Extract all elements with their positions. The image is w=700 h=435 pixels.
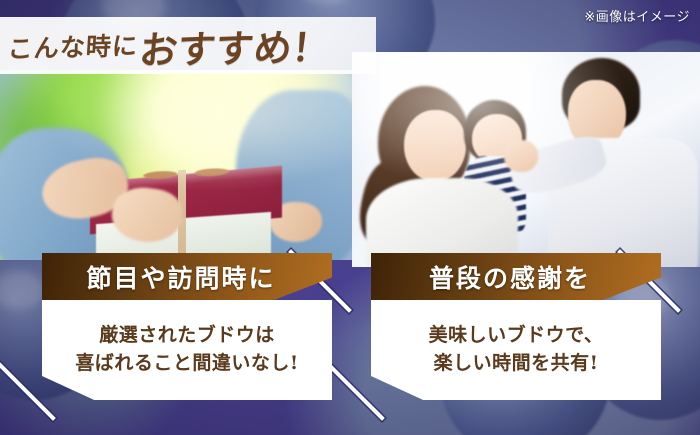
info-card-occasion-header: 節目や訪問時に bbox=[42, 253, 332, 300]
info-card-occasion-body: 厳選されたブドウは 喜ばれること間違いなし! bbox=[42, 300, 332, 400]
page-title-large: おすすめ！ bbox=[137, 16, 332, 74]
photo-glow-overlay bbox=[352, 52, 700, 267]
family-photo bbox=[352, 52, 700, 267]
info-card-gratitude-header: 普段の感謝を bbox=[371, 253, 661, 300]
page-title-small: こんな時に bbox=[7, 26, 139, 65]
image-disclaimer-note: ※画像はイメージ bbox=[584, 6, 690, 25]
info-card-gratitude-line-2: 楽しい時間を共有! bbox=[434, 351, 599, 377]
info-card-occasion-line-2: 喜ばれること間違いなし! bbox=[75, 351, 298, 377]
info-card-gratitude: 普段の感謝を 美味しいブドウで、 楽しい時間を共有! bbox=[371, 253, 661, 400]
page-title: こんな時に おすすめ！ bbox=[8, 17, 384, 74]
info-card-occasion-heading: 節目や訪問時に bbox=[86, 259, 275, 295]
info-card-occasion-line-1: 厳選されたブドウは bbox=[99, 323, 275, 349]
info-card-gratitude-heading: 普段の感謝を bbox=[429, 259, 591, 295]
info-card-gratitude-line-1: 美味しいブドウで、 bbox=[429, 323, 604, 349]
promo-banner-image: こんな時に おすすめ！ ※画像はイメージ 節目や訪問時に 厳選されたブドウは 喜… bbox=[0, 0, 700, 435]
info-card-occasion: 節目や訪問時に 厳選されたブドウは 喜ばれること間違いなし! bbox=[42, 253, 332, 400]
photo-light-overlay bbox=[0, 70, 352, 260]
gift-box-photo bbox=[0, 70, 352, 260]
info-card-gratitude-body: 美味しいブドウで、 楽しい時間を共有! bbox=[371, 300, 661, 400]
